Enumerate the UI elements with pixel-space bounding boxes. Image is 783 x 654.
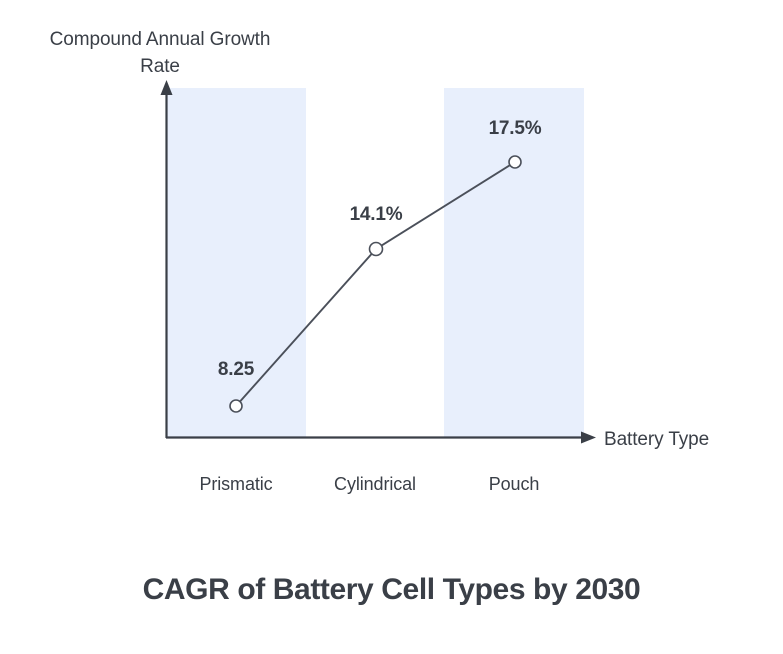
data-point-marker-pouch[interactable] [509, 156, 521, 168]
data-point-marker-prismatic[interactable] [230, 400, 242, 412]
category-band-prismatic [166, 88, 306, 438]
data-label-cylindrical: 14.1% [350, 203, 403, 226]
chart-title: CAGR of Battery Cell Types by 2030 [0, 573, 783, 607]
x-tick-label-pouch: Pouch [489, 473, 540, 495]
x-tick-label-prismatic: Prismatic [199, 473, 272, 495]
x-axis-arrowhead [581, 432, 596, 444]
data-label-prismatic: 8.25 [218, 358, 254, 381]
y-axis-arrowhead [161, 80, 173, 95]
x-axis-title: Battery Type [604, 428, 709, 452]
data-label-pouch: 17.5% [489, 117, 542, 140]
category-band-pouch [444, 88, 584, 438]
plot-area [0, 0, 783, 654]
data-point-marker-cylindrical[interactable] [370, 243, 383, 256]
x-tick-label-cylindrical: Cylindrical [334, 473, 416, 495]
chart-container: Compound Annual GrowthRate 8.25 14.1% 17… [0, 0, 783, 654]
